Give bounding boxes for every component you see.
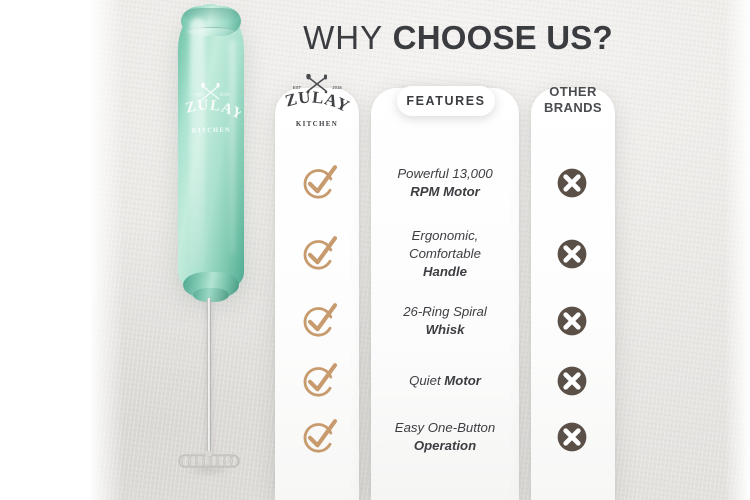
- feature-text: Quiet Motor: [371, 372, 519, 390]
- circle-check-icon: [300, 417, 340, 457]
- circle-x-icon: [554, 303, 590, 339]
- feature-text: Easy One-ButtonOperation: [371, 419, 519, 455]
- circle-x-icon: [554, 236, 590, 272]
- circle-x-icon: [554, 419, 590, 455]
- logo-subtitle: KITCHEN: [296, 120, 338, 128]
- other-brands-line2: BRANDS: [531, 100, 615, 116]
- other-brands-header: OTHER BRANDS: [531, 84, 615, 115]
- circle-check-icon: [300, 234, 340, 274]
- features-header-label: FEATURES: [406, 94, 485, 108]
- logo-est-right: 2016: [332, 85, 342, 90]
- feature-text: Powerful 13,000RPM Motor: [371, 165, 519, 201]
- comparison-table: EST 2016 ZULAY KITCHEN FEATURES OTHER BR…: [0, 0, 750, 500]
- circle-x-icon: [554, 165, 590, 201]
- product-comparison-infographic: EST 2016 ZULAY KITCHEN: [0, 0, 750, 500]
- zulay-kitchen-logo: EST 2016 ZULAY KITCHEN: [283, 74, 351, 134]
- other-brands-line1: OTHER: [531, 84, 615, 100]
- feature-text: 26-Ring SpiralWhisk: [371, 303, 519, 339]
- circle-check-icon: [300, 163, 340, 203]
- circle-check-icon: [300, 361, 340, 401]
- circle-check-icon: [300, 301, 340, 341]
- logo-wordmark: ZULAY: [283, 87, 351, 116]
- features-header-pill: FEATURES: [397, 86, 495, 116]
- circle-x-icon: [554, 363, 590, 399]
- feature-text: Ergonomic,ComfortableHandle: [371, 227, 519, 281]
